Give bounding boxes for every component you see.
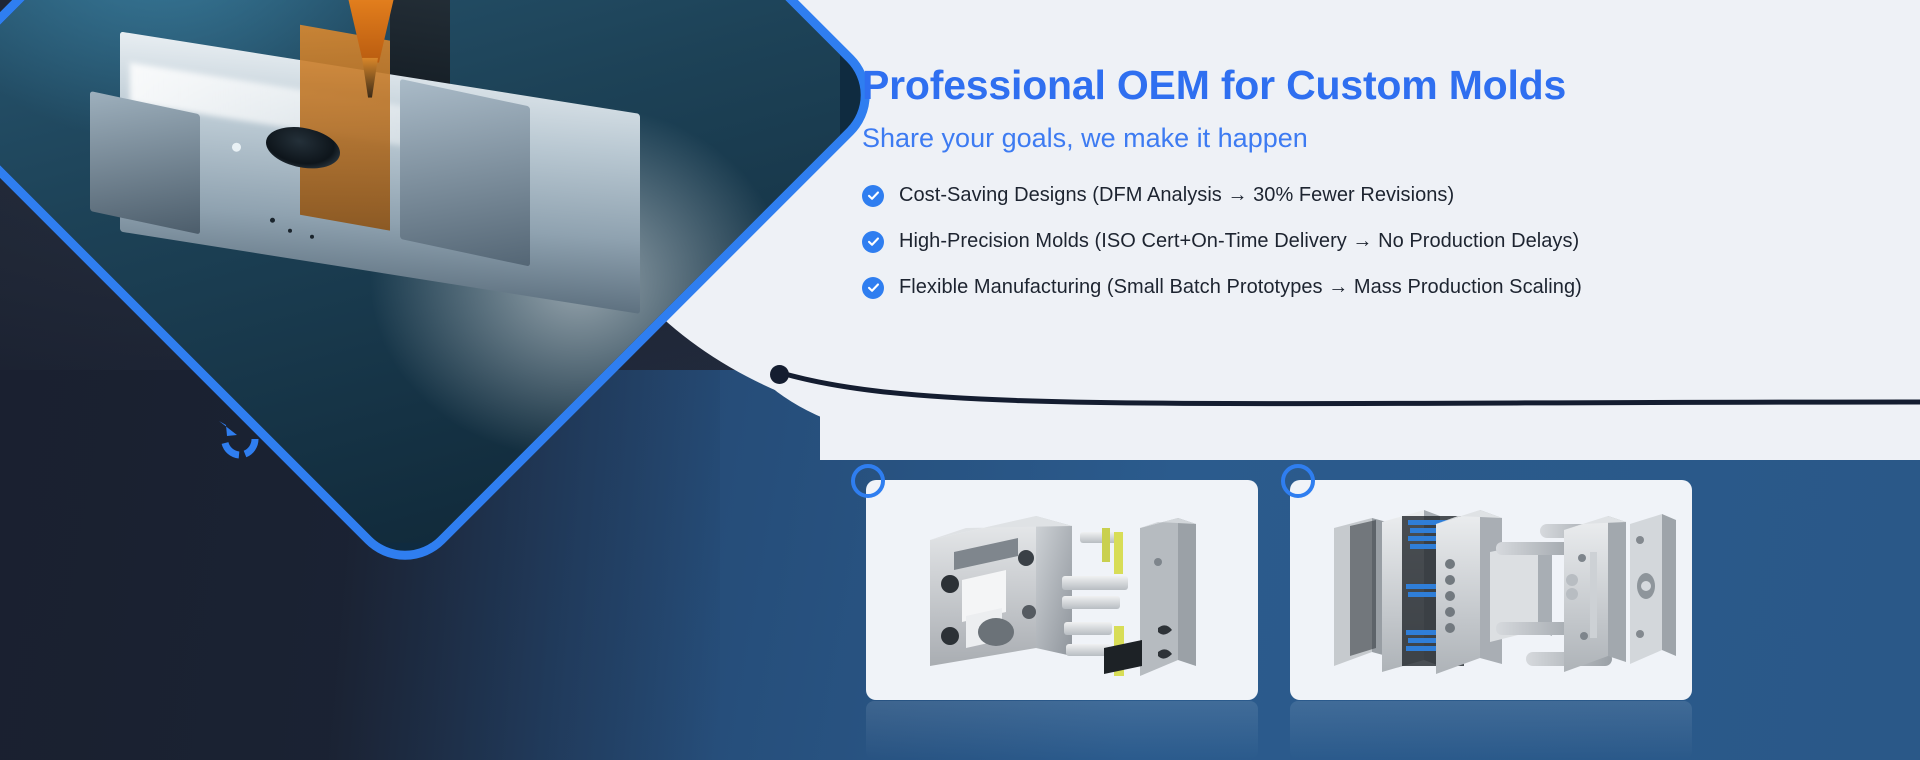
check-circle-icon	[862, 231, 884, 253]
mold-render-2	[1290, 480, 1692, 700]
ring-marker	[1281, 464, 1315, 498]
rotate-arrow-icon	[215, 415, 263, 463]
mold-card-2[interactable]	[1290, 480, 1692, 700]
feature-text: High-Precision Molds (ISO Cert+On-Time D…	[899, 230, 1579, 253]
list-item: High-Precision Molds (ISO Cert+On-Time D…	[862, 230, 1872, 253]
check-circle-icon	[862, 277, 884, 299]
photo-block	[400, 79, 530, 267]
card-reflection	[866, 701, 1258, 759]
photo-speck	[270, 218, 275, 223]
curved-connector-line	[740, 340, 1920, 410]
feature-text: Cost-Saving Designs (DFM Analysis → 30% …	[899, 184, 1454, 207]
photo-speck	[310, 235, 314, 239]
photo-speck	[288, 229, 292, 233]
photo-speck	[232, 143, 241, 152]
list-item: Cost-Saving Designs (DFM Analysis → 30% …	[862, 184, 1872, 207]
page-title: Professional OEM for Custom Molds	[862, 62, 1872, 109]
list-item: Flexible Manufacturing (Small Batch Prot…	[862, 276, 1872, 299]
feature-list: Cost-Saving Designs (DFM Analysis → 30% …	[862, 184, 1872, 299]
connector-end-dot	[770, 365, 789, 384]
check-circle-icon	[862, 185, 884, 207]
card-reflection	[1290, 701, 1692, 759]
banner-stage: Professional OEM for Custom Molds Share …	[0, 0, 1920, 760]
page-subtitle: Share your goals, we make it happen	[862, 123, 1872, 154]
photo-block	[90, 91, 200, 234]
mold-render-1	[866, 480, 1258, 700]
ring-marker	[851, 464, 885, 498]
mold-card-1[interactable]	[866, 480, 1258, 700]
feature-text: Flexible Manufacturing (Small Batch Prot…	[899, 276, 1582, 299]
text-content: Professional OEM for Custom Molds Share …	[862, 62, 1872, 322]
hero-frame-group	[60, 0, 750, 440]
